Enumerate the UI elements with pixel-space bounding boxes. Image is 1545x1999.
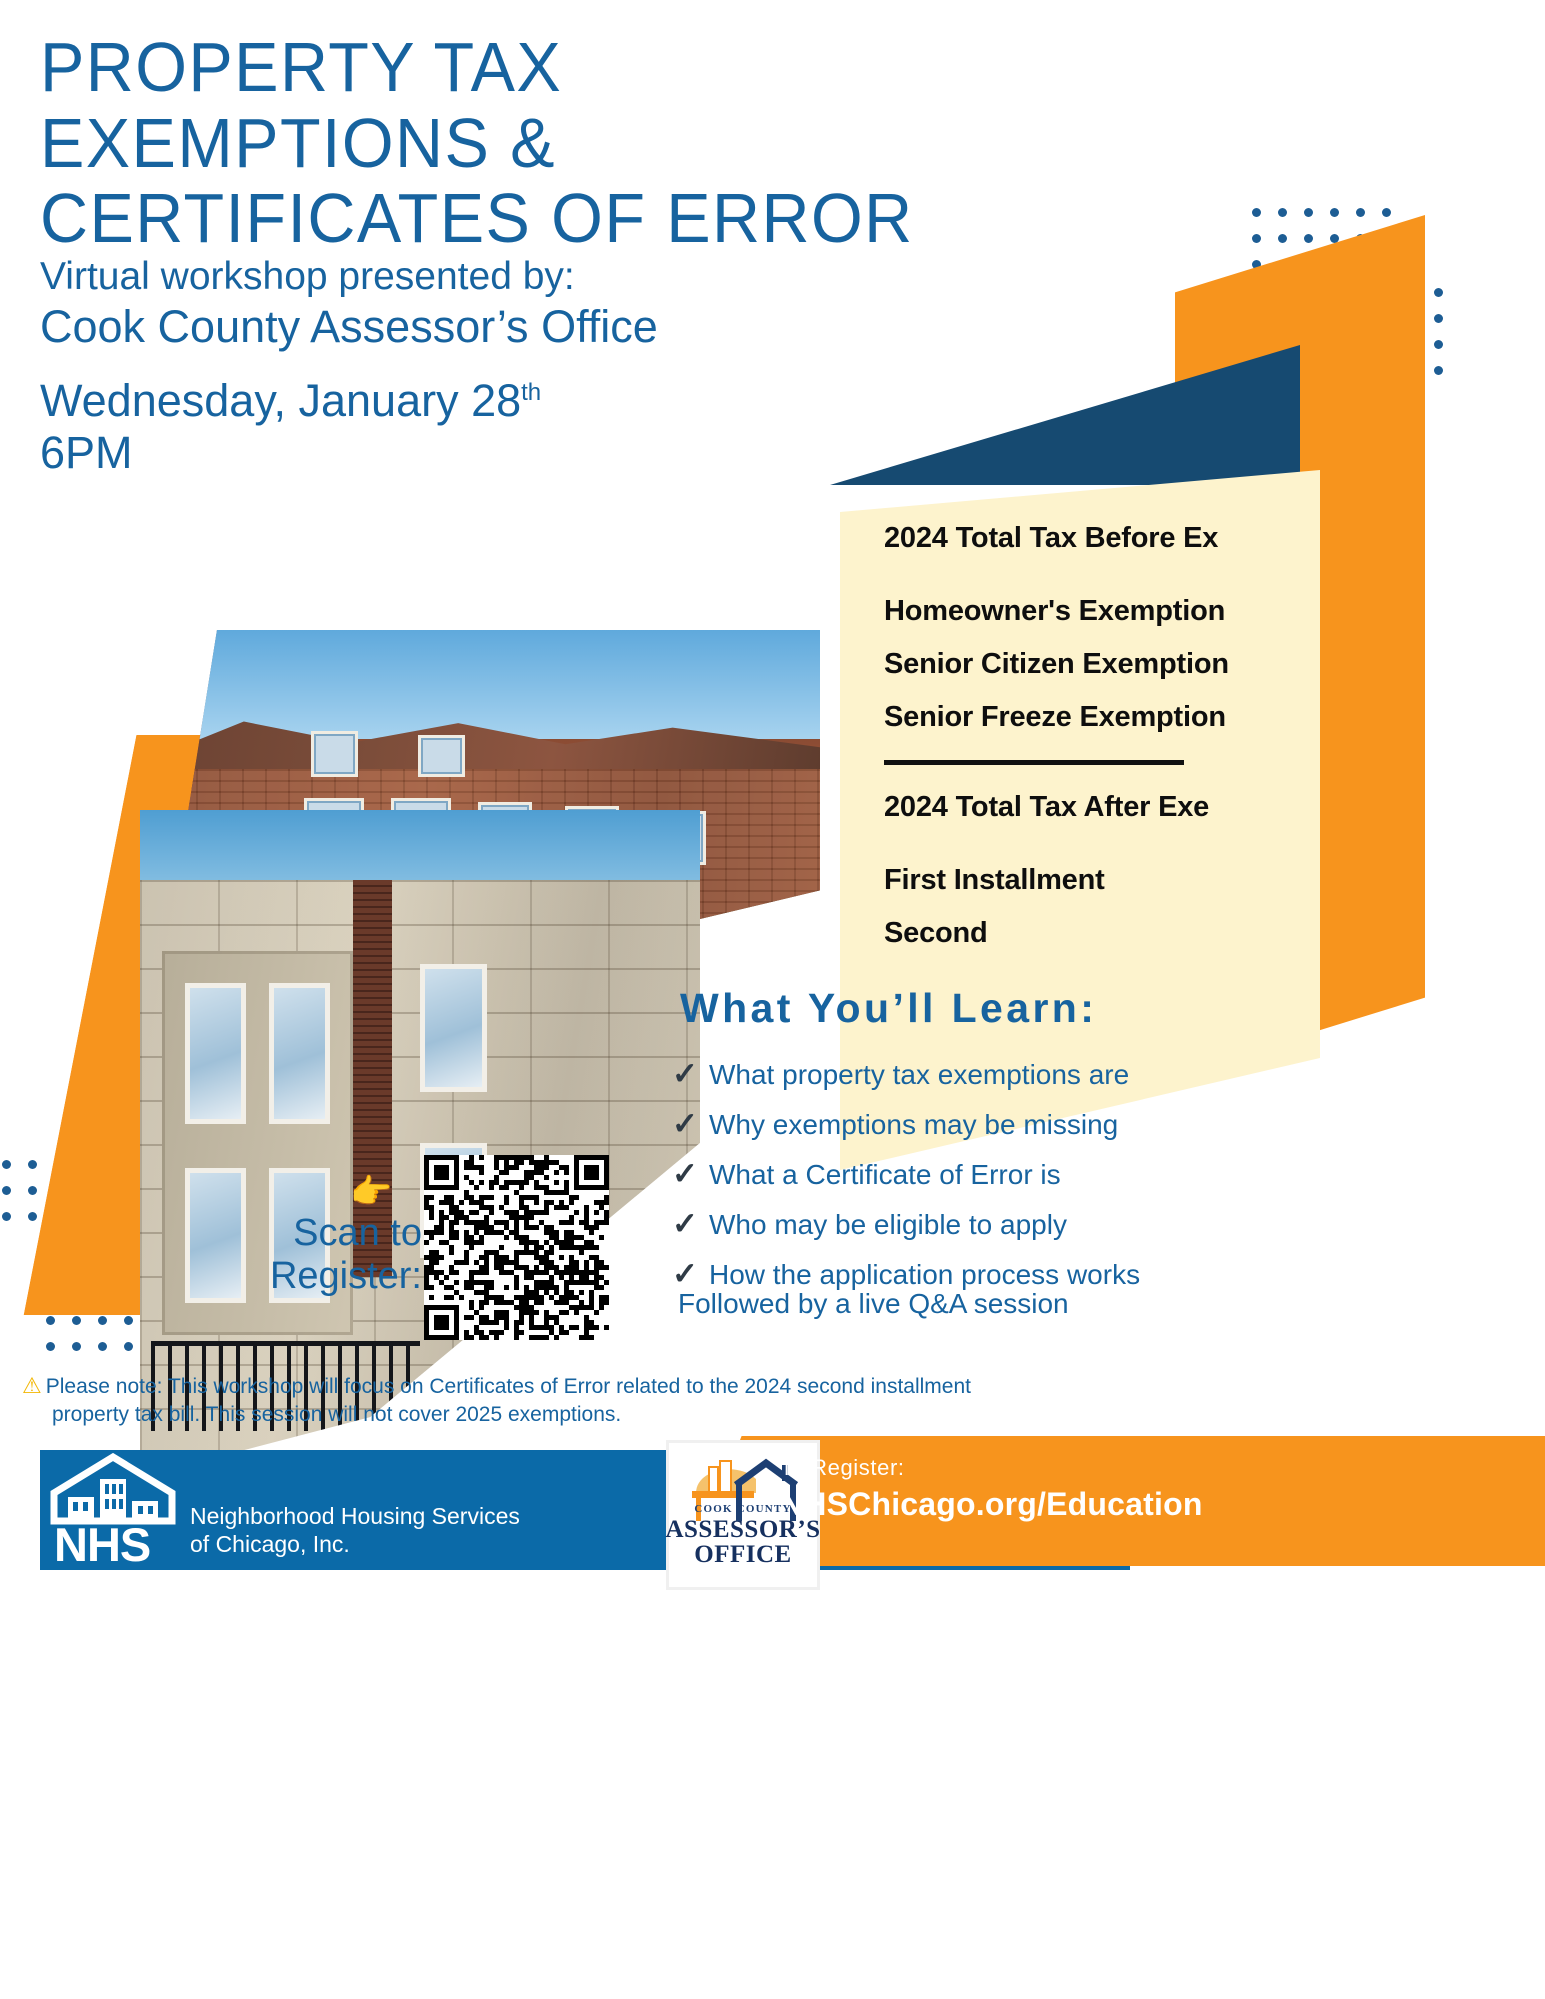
flyer-page: 2024 Total Tax Before Ex Homeowner's Exe…	[0, 0, 1545, 1999]
event-date-text: Wednesday, January 28	[40, 375, 521, 426]
decorative-dot	[1330, 234, 1339, 243]
tax-bill-divider	[884, 760, 1184, 765]
sky-region	[150, 630, 820, 739]
disclaimer-note: ⚠Please note: This workshop will focus o…	[22, 1372, 1142, 1428]
event-datetime: Wednesday, January 28th 6PM	[40, 375, 541, 479]
check-icon: ✓	[672, 1058, 698, 1089]
decorative-dot	[1252, 234, 1261, 243]
assessor-office-line-2: OFFICE	[694, 1542, 791, 1568]
window	[269, 983, 331, 1124]
check-icon: ✓	[672, 1258, 698, 1289]
qr-code[interactable]	[424, 1155, 609, 1340]
decorative-dot	[1434, 288, 1443, 297]
decorative-dot	[1382, 208, 1391, 217]
event-time: 6PM	[40, 427, 541, 479]
window	[185, 983, 247, 1124]
note-line-2: property tax bill. This session will not…	[22, 1401, 1142, 1428]
list-item-label: What a Certificate of Error is	[709, 1161, 1061, 1189]
tax-bill-exemption-homeowner: Homeowner's Exemption	[884, 595, 1320, 628]
decorative-dot	[72, 1316, 81, 1325]
event-date: Wednesday, January 28th	[40, 375, 541, 427]
list-item-label: Why exemptions may be missing	[709, 1111, 1118, 1139]
tax-bill-total-after: 2024 Total Tax After Exe	[884, 791, 1320, 824]
decorative-dot	[1278, 234, 1287, 243]
decorative-dot	[2, 1186, 11, 1195]
list-item-label: What property tax exemptions are	[709, 1061, 1129, 1089]
warning-icon: ⚠	[22, 1373, 42, 1398]
decorative-dot	[28, 1212, 37, 1221]
register-label: To Register:	[780, 1455, 1203, 1481]
note-line-1: ⚠Please note: This workshop will focus o…	[22, 1372, 1142, 1401]
nhs-logo: NHS Neighborhood Housing Services of Chi…	[50, 1453, 520, 1568]
page-title: PROPERTY TAX EXEMPTIONS & CERTIFICATES O…	[40, 30, 990, 257]
presenter-block: Virtual workshop presented by: Cook Coun…	[40, 255, 740, 353]
decorative-dot	[1356, 208, 1365, 217]
decorative-dot	[2, 1160, 11, 1169]
qa-session-note: Followed by a live Q&A session	[678, 1288, 1069, 1320]
house-icon	[50, 1453, 176, 1525]
decorative-dot	[1252, 208, 1261, 217]
register-url[interactable]: NHSChicago.org/Education	[780, 1486, 1203, 1523]
learn-list: ✓ What property tax exemptions are ✓ Why…	[672, 1058, 1212, 1308]
scan-to-register-label: Scan to Register:	[222, 1212, 422, 1297]
window	[420, 964, 487, 1092]
decorative-dot	[124, 1316, 133, 1325]
decorative-dot	[2, 1212, 11, 1221]
decorative-dot	[1304, 208, 1313, 217]
tax-bill-exemption-senior: Senior Citizen Exemption	[884, 648, 1320, 681]
decorative-dot	[98, 1342, 107, 1351]
nhs-house-mark: NHS	[50, 1453, 176, 1568]
tax-bill-exemption-senior-freeze: Senior Freeze Exemption	[884, 701, 1320, 734]
title-line-1: PROPERTY TAX	[40, 30, 990, 106]
decorative-dot	[46, 1342, 55, 1351]
presenter-intro: Virtual workshop presented by:	[40, 255, 740, 300]
tax-bill-total-before: 2024 Total Tax Before Ex	[884, 522, 1320, 555]
tax-bill-second-installment: Second	[884, 917, 1320, 950]
nhs-name-line-1: Neighborhood Housing Services	[190, 1502, 520, 1530]
decorative-dot	[1278, 208, 1287, 217]
list-item: ✓ Who may be eligible to apply	[672, 1208, 1212, 1239]
check-icon: ✓	[672, 1108, 698, 1139]
nhs-abbreviation: NHS	[54, 1521, 150, 1568]
scan-label-line-2: Register:	[222, 1255, 422, 1298]
nhs-wordmark: Neighborhood Housing Services of Chicago…	[190, 1502, 520, 1568]
decorative-dot	[1304, 234, 1313, 243]
presenter-organization: Cook County Assessor’s Office	[40, 300, 740, 353]
check-icon: ✓	[672, 1208, 698, 1239]
event-date-suffix: th	[521, 379, 541, 406]
check-icon: ✓	[672, 1158, 698, 1189]
note-line-1-text: Please note: This workshop will focus on…	[46, 1375, 971, 1398]
list-item: ✓ What a Certificate of Error is	[672, 1158, 1212, 1189]
dormer-window	[418, 735, 465, 777]
decorative-dot	[46, 1316, 55, 1325]
decorative-dot	[72, 1342, 81, 1351]
decorative-dot	[1434, 340, 1443, 349]
decorative-dot	[98, 1316, 107, 1325]
decorative-dot	[124, 1342, 133, 1351]
list-item: ✓ Why exemptions may be missing	[672, 1108, 1212, 1139]
decorative-dot	[1434, 366, 1443, 375]
list-item: ✓ How the application process works	[672, 1258, 1212, 1289]
decorative-dot	[28, 1160, 37, 1169]
tax-bill-first-installment: First Installment	[884, 864, 1320, 897]
learn-section-heading: What You’ll Learn:	[680, 985, 1097, 1032]
title-line-3: CERTIFICATES OF ERROR	[40, 181, 990, 257]
qr-code-canvas[interactable]	[424, 1155, 609, 1340]
pointing-hand-icon: 👉	[350, 1175, 392, 1209]
register-info: To Register: NHSChicago.org/Education	[780, 1455, 1203, 1523]
list-item-label: How the application process works	[709, 1261, 1140, 1289]
scan-label-line-1: Scan to	[222, 1212, 422, 1255]
nhs-name-line-2: of Chicago, Inc.	[190, 1530, 520, 1558]
decorative-dot	[1330, 208, 1339, 217]
dormer-window	[311, 731, 358, 777]
title-line-2: EXEMPTIONS &	[40, 106, 990, 182]
decorative-dot	[1434, 314, 1443, 323]
list-item: ✓ What property tax exemptions are	[672, 1058, 1212, 1089]
list-item-label: Who may be eligible to apply	[709, 1211, 1067, 1239]
assessor-cook-county-label: COOK COUNTY	[694, 1503, 791, 1515]
decorative-dot	[28, 1186, 37, 1195]
navy-triangle-accent	[830, 345, 1300, 485]
